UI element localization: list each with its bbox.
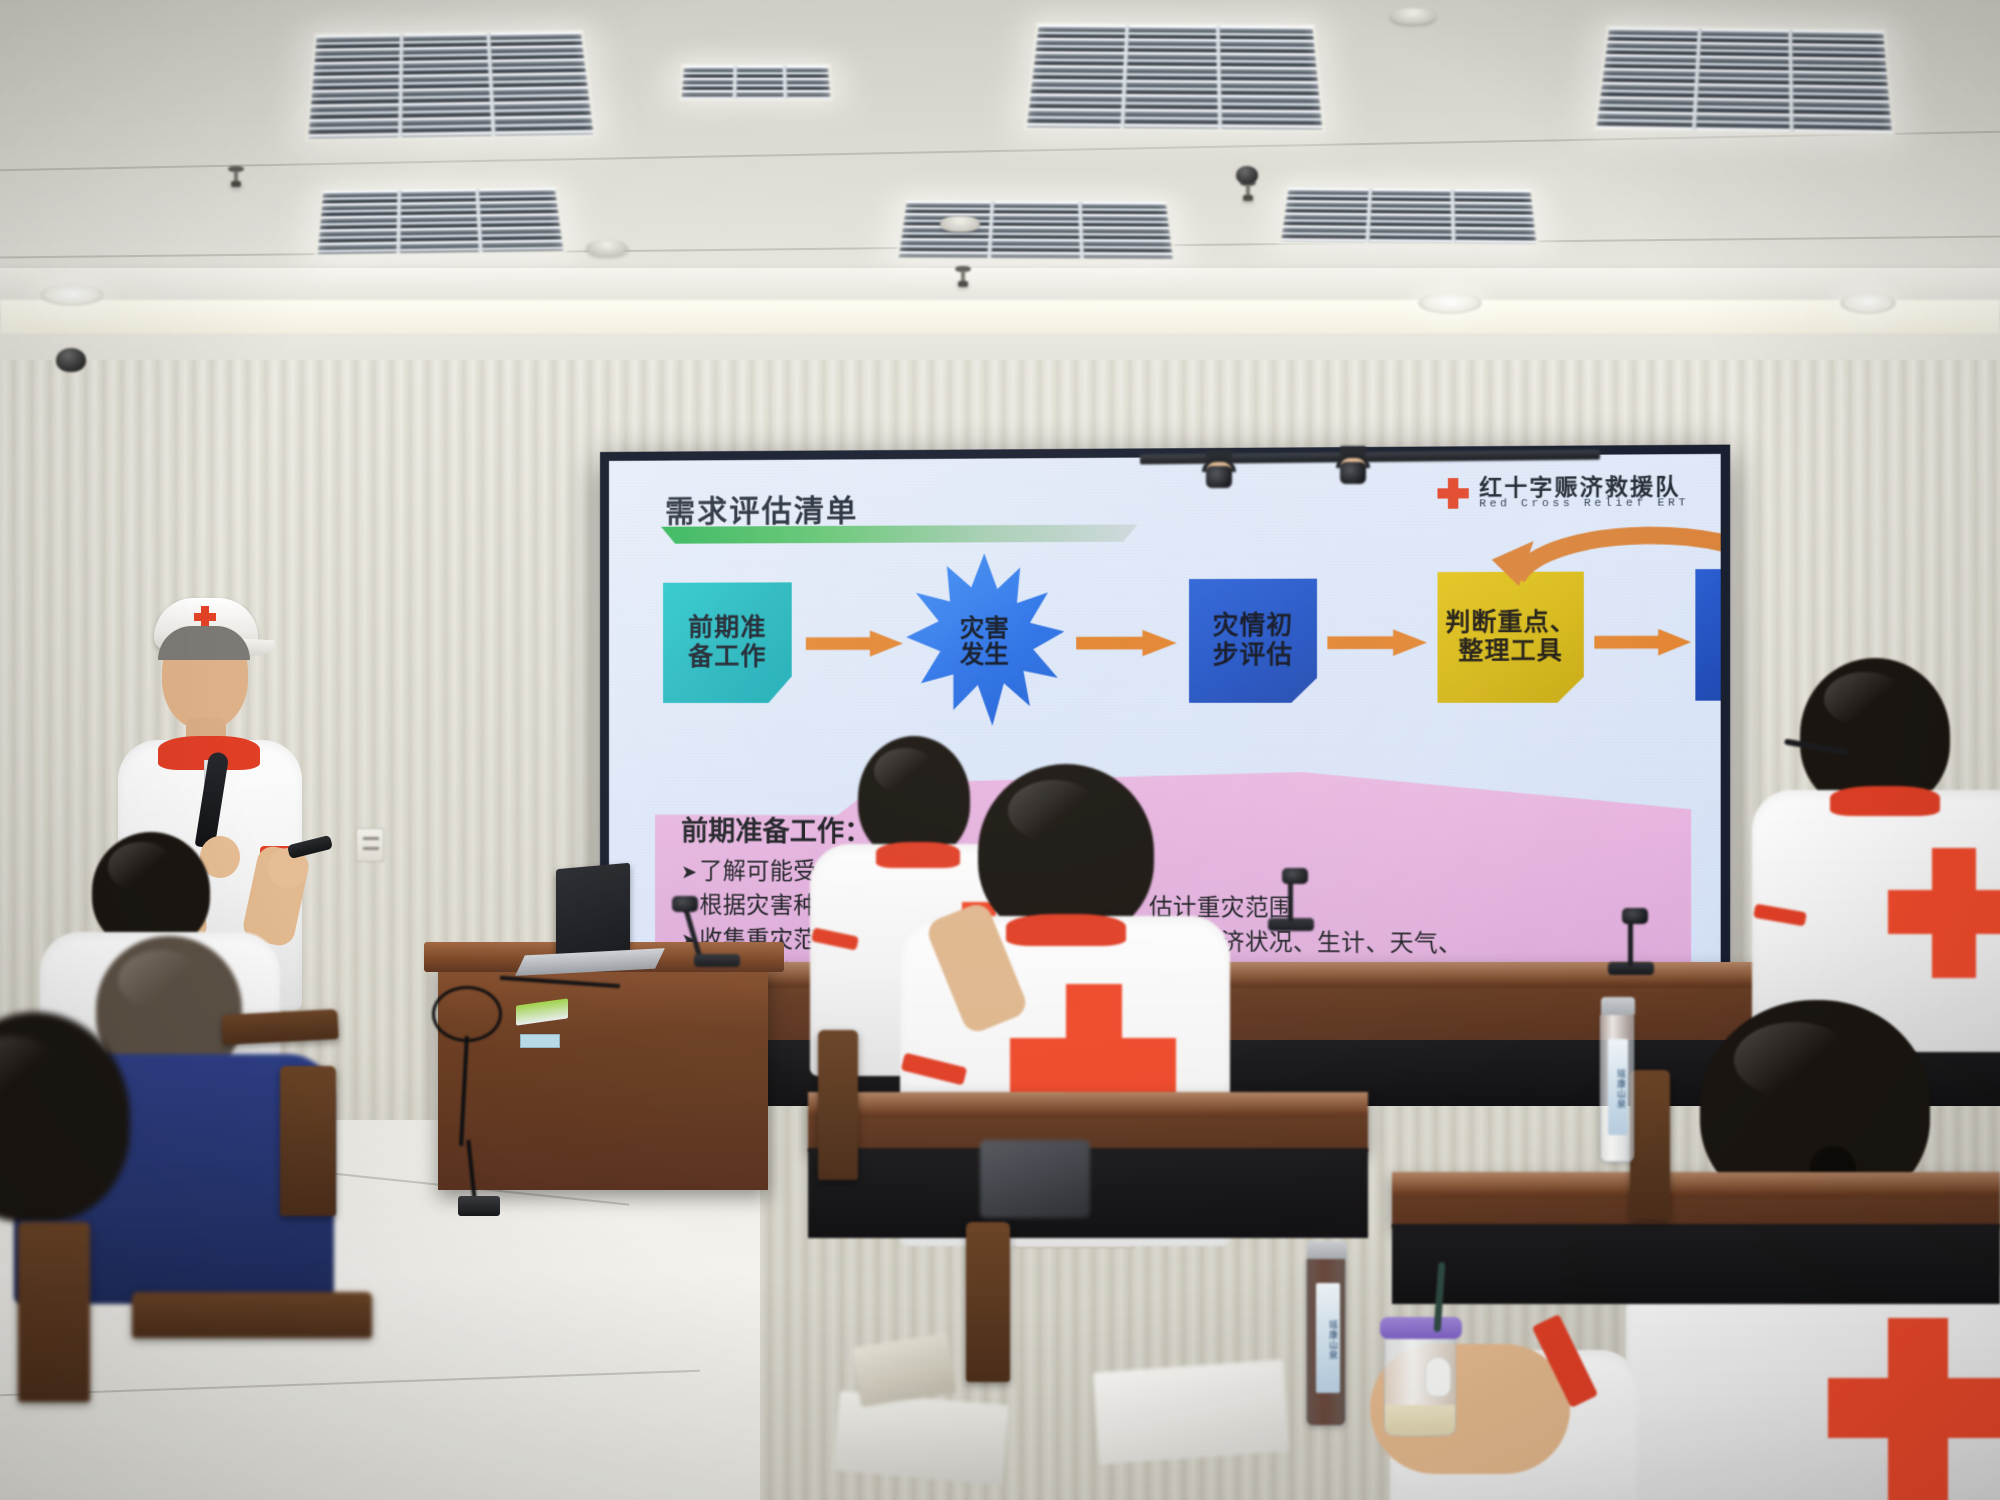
audience-collar bbox=[1006, 914, 1126, 946]
flow-arrow-2 bbox=[1076, 630, 1177, 657]
recessed-downlight bbox=[1840, 292, 1896, 314]
lecture-room-photo: 需求评估清单 红十字赈济救援队 Red Cross Relief ERT 前期准… bbox=[0, 0, 2000, 1500]
red-cross-icon bbox=[194, 606, 216, 628]
chair-back bbox=[18, 1222, 90, 1402]
ceiling-camera-icon bbox=[1196, 450, 1242, 484]
flow-step-5[interactable]: 实地评 估 bbox=[1695, 569, 1720, 701]
ceiling-light-fixture bbox=[1023, 22, 1325, 132]
ceiling-light-fixture bbox=[1278, 186, 1540, 246]
chair-back bbox=[132, 1292, 372, 1338]
audience-collar bbox=[876, 842, 960, 868]
flow-step-3[interactable]: 灾情初 步评估 bbox=[1189, 579, 1317, 703]
bottle-cap bbox=[1307, 1241, 1347, 1259]
ceiling-light-fixture bbox=[896, 199, 1177, 261]
power-cable-loop bbox=[432, 986, 502, 1042]
tumbler-lid bbox=[1380, 1317, 1462, 1339]
tumbler-cup[interactable] bbox=[1384, 1332, 1456, 1436]
bag-on-desk bbox=[980, 1140, 1090, 1218]
ceiling-camera-icon bbox=[1236, 166, 1258, 184]
chair-back bbox=[280, 1066, 336, 1216]
flow-feedback-arrow bbox=[1473, 513, 1721, 586]
audience-desk-face bbox=[1392, 1224, 2000, 1304]
ceiling-light-fixture bbox=[678, 64, 833, 101]
flow-step-1-label: 前期准 备工作 bbox=[688, 613, 766, 672]
slide-content: 需求评估清单 红十字赈济救援队 Red Cross Relief ERT 前期准… bbox=[609, 454, 1721, 970]
slide-title: 需求评估清单 bbox=[665, 486, 858, 531]
red-cross-icon bbox=[1437, 478, 1468, 509]
audience-collar bbox=[1830, 786, 1940, 816]
chair-back bbox=[221, 1009, 338, 1045]
sprinkler-head bbox=[228, 166, 244, 188]
recessed-downlight bbox=[1418, 292, 1482, 314]
smoke-detector bbox=[940, 216, 980, 232]
detail-panel-heading: 前期准备工作： bbox=[681, 809, 871, 849]
flow-step-4-label: 判断重点、 整理工具 bbox=[1445, 608, 1576, 666]
podium-label-plate bbox=[520, 1034, 560, 1048]
projection-screen: 需求评估清单 红十字赈济救援队 Red Cross Relief ERT 前期准… bbox=[600, 445, 1730, 980]
flow-arrow-3 bbox=[1327, 629, 1427, 656]
bottle-label: 瑶康山泉 bbox=[1608, 1039, 1628, 1135]
cup-sticker bbox=[1425, 1357, 1451, 1397]
desk-microphone-head bbox=[1622, 908, 1648, 924]
logo-label-en: Red Cross Relief ERT bbox=[1479, 498, 1689, 511]
desk-microphone-head bbox=[1282, 868, 1308, 884]
smoke-detector bbox=[586, 240, 628, 256]
flow-step-4[interactable]: 判断重点、 整理工具 bbox=[1437, 572, 1583, 703]
chair-back bbox=[818, 1030, 858, 1180]
podium-microphone-head bbox=[672, 896, 698, 912]
ceiling-light-fixture bbox=[1593, 25, 1895, 135]
water-bottle[interactable]: 瑶康山泉 bbox=[1600, 1012, 1634, 1162]
flow-arrow-4 bbox=[1594, 629, 1691, 656]
water-bottle[interactable]: 瑶康山泉 bbox=[1306, 1256, 1346, 1426]
bottle-cap bbox=[1601, 997, 1635, 1015]
flow-step-2-label: 灾害 发生 bbox=[960, 616, 1009, 669]
sprinkler-head bbox=[955, 266, 971, 288]
paper-handout bbox=[833, 1391, 1009, 1486]
cove-light-glow bbox=[0, 300, 2000, 334]
flow-step-1[interactable]: 前期准 备工作 bbox=[663, 582, 792, 703]
bottle-label: 瑶康山泉 bbox=[1316, 1283, 1340, 1393]
tumbler-band bbox=[1385, 1405, 1455, 1435]
ceiling-camera-icon bbox=[1330, 446, 1376, 480]
podium-microphone-base bbox=[694, 954, 740, 967]
paper-handout bbox=[1093, 1359, 1289, 1464]
recessed-downlight bbox=[40, 284, 104, 306]
flow-step-3-label: 灾情初 步评估 bbox=[1213, 611, 1294, 671]
slide-title-underline bbox=[661, 524, 1138, 543]
power-adapter bbox=[458, 1196, 500, 1216]
bullet-marker-icon: ➤ bbox=[681, 862, 697, 883]
flow-step-5-label: 实地评 估 bbox=[1720, 604, 1721, 665]
chair-back bbox=[966, 1222, 1010, 1382]
flow-arrow-1 bbox=[806, 630, 903, 656]
ceiling-camera-icon bbox=[56, 348, 86, 372]
ceiling-light-fixture bbox=[305, 29, 597, 141]
smoke-detector bbox=[1390, 8, 1436, 24]
red-cross-logo: 红十字赈济救援队 Red Cross Relief ERT bbox=[1437, 475, 1689, 512]
ceiling-light-fixture bbox=[315, 186, 567, 257]
audience-desk bbox=[1392, 1172, 2000, 1228]
flow-step-2[interactable]: 灾害 发生 bbox=[903, 553, 1066, 731]
chair-back bbox=[1630, 1070, 1670, 1220]
logo-label-cn: 红十字赈济救援队 bbox=[1479, 475, 1689, 500]
